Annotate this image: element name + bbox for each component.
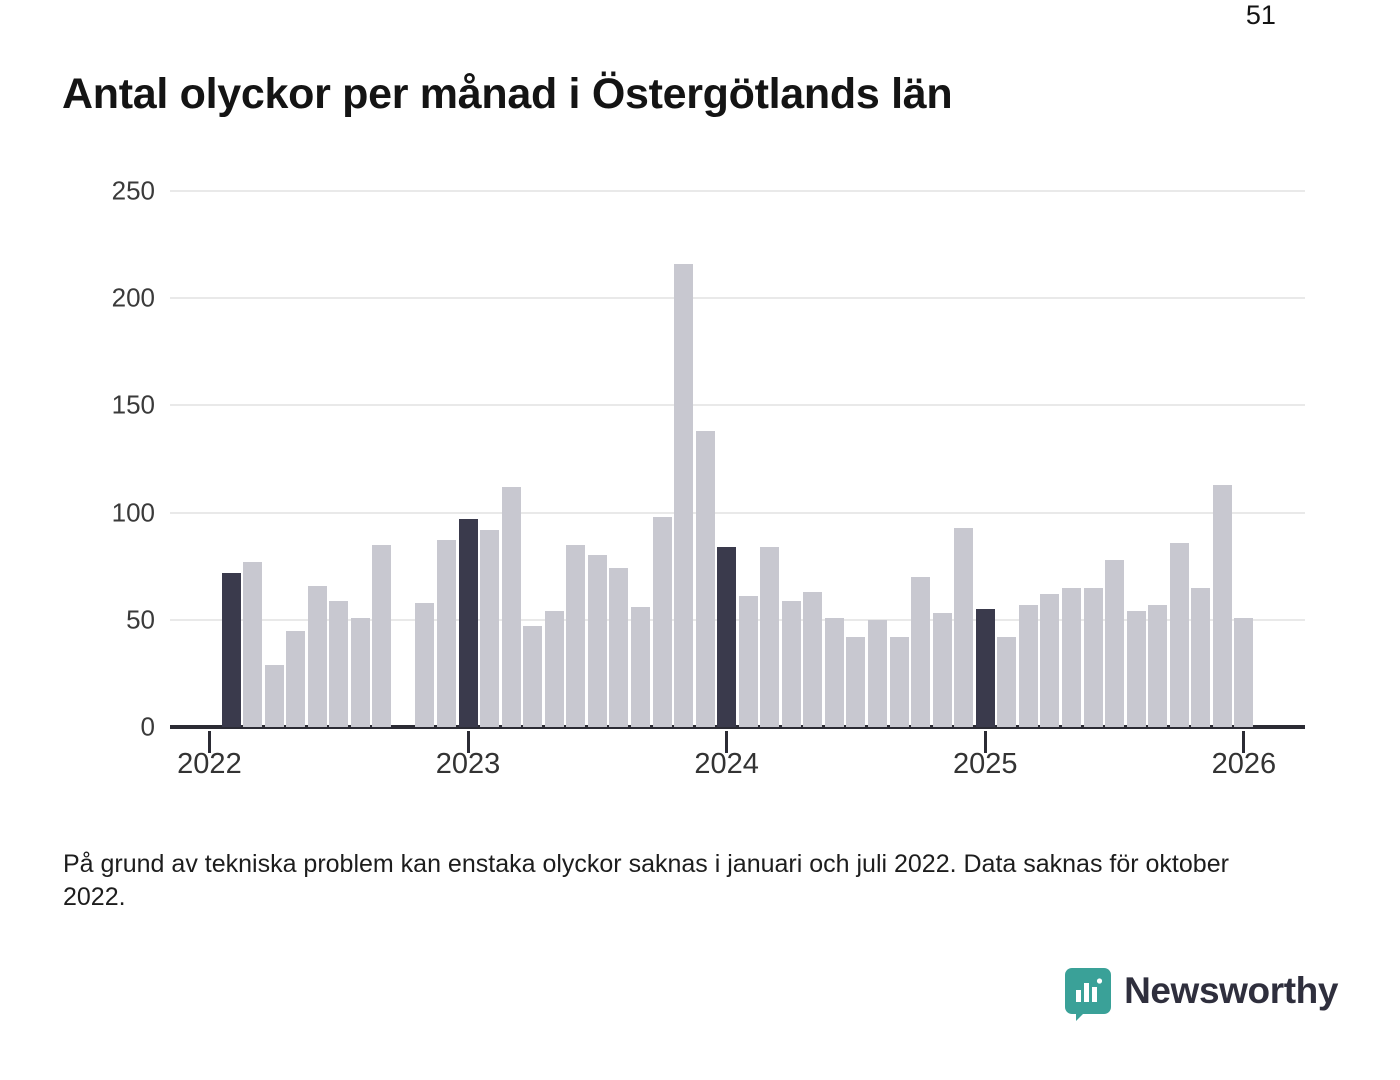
gridline (170, 404, 1305, 406)
bar (523, 626, 542, 727)
bar (609, 568, 628, 727)
x-axis-tick-label: 2023 (436, 748, 501, 781)
x-axis-tick-label: 2026 (1212, 748, 1277, 781)
bar (997, 637, 1016, 727)
bar (653, 517, 672, 727)
bar (265, 665, 284, 727)
bar (459, 519, 478, 727)
bar (825, 618, 844, 727)
bar (588, 555, 607, 727)
bar (566, 545, 585, 727)
bar (243, 562, 262, 727)
x-axis-tick-label: 2025 (953, 748, 1018, 781)
bar (1019, 605, 1038, 727)
bar (1062, 588, 1081, 727)
y-axis-tick-label: 50 (45, 604, 155, 635)
brand-logo: Newsworthy (1065, 968, 1338, 1014)
bar (1084, 588, 1103, 727)
y-axis-tick-label: 200 (45, 283, 155, 314)
bar (868, 620, 887, 727)
bar (329, 601, 348, 727)
y-axis-tick-label: 150 (45, 390, 155, 421)
bar (437, 540, 456, 727)
bar (1191, 588, 1210, 727)
chart-caption: På grund av tekniska problem kan enstaka… (63, 848, 1293, 915)
y-axis-tick-label: 0 (45, 712, 155, 743)
bar (846, 637, 865, 727)
bar (1040, 594, 1059, 727)
bar (890, 637, 909, 727)
gridline (170, 512, 1305, 514)
bar (222, 573, 241, 727)
bar (1105, 560, 1124, 727)
bar (1148, 605, 1167, 727)
bar (1127, 611, 1146, 727)
gridline (170, 190, 1305, 192)
bar (415, 603, 434, 727)
x-axis-tick-label: 2024 (694, 748, 759, 781)
bar (911, 577, 930, 727)
bar (286, 631, 305, 727)
bar (351, 618, 370, 727)
bar (1170, 543, 1189, 727)
y-axis-tick-label: 250 (45, 176, 155, 207)
bar (954, 528, 973, 727)
bar (545, 611, 564, 727)
bar (933, 613, 952, 727)
chart-plot-area: 0501001502002505120222023202420252026 (0, 0, 1400, 1080)
bar-value-label: 51 (1246, 0, 1276, 31)
bar (717, 547, 736, 727)
brand-name: Newsworthy (1124, 970, 1338, 1012)
bar (1234, 618, 1253, 727)
y-axis-tick-label: 100 (45, 497, 155, 528)
bar (782, 601, 801, 727)
bar (976, 609, 995, 727)
bar (739, 596, 758, 727)
gridline (170, 297, 1305, 299)
x-axis-tick-label: 2022 (177, 748, 242, 781)
bar (1213, 485, 1232, 727)
bar (674, 264, 693, 727)
bar (502, 487, 521, 727)
bar (696, 431, 715, 727)
bar (372, 545, 391, 727)
bar-chart-bubble-icon (1065, 968, 1111, 1014)
bar (308, 586, 327, 728)
bar (803, 592, 822, 727)
bar (631, 607, 650, 727)
bar (480, 530, 499, 727)
bar (760, 547, 779, 727)
